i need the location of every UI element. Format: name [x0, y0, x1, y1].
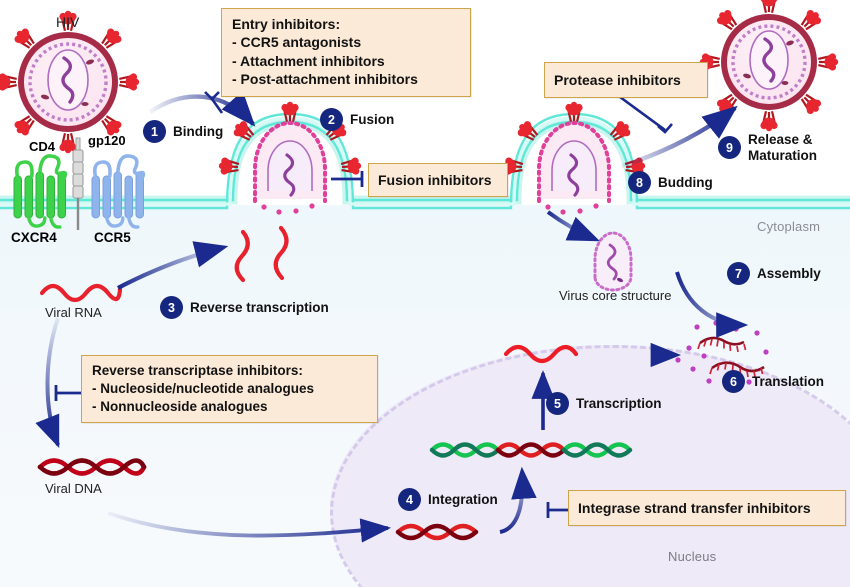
viral-rna-label: Viral RNA [45, 305, 102, 320]
step-7-label: Assembly [757, 266, 821, 282]
entry-inhibitors-line-3: - Attachment inhibitors [232, 52, 460, 70]
cytoplasm-label: Cytoplasm [757, 219, 820, 234]
fusion-inhibitors-box: Fusion inhibitors [368, 163, 508, 197]
step-9-release-maturation: 9 Release & Maturation [718, 132, 817, 164]
entry-inhibitors-line-2: - CCR5 antagonists [232, 33, 460, 51]
step-4-integration: 4 Integration [398, 488, 498, 511]
rt-inhibitors-box: Reverse transcriptase inhibitors: - Nucl… [81, 355, 378, 423]
rt-inhibitors-line-1: Reverse transcriptase inhibitors: [92, 362, 367, 380]
step-8-badge: 8 [628, 171, 651, 194]
virus-core-label: Virus core structure [559, 288, 671, 303]
protease-inhibitors-box: Protease inhibitors [544, 62, 708, 98]
step-2-label: Fusion [350, 112, 394, 128]
nucleus-label: Nucleus [668, 549, 716, 564]
step-5-badge: 5 [546, 392, 569, 415]
step-1-label: Binding [173, 124, 223, 140]
rt-inhibitors-line-2: - Nucleoside/nucleotide analogues [92, 380, 367, 398]
entry-inhibitors-line-1: Entry inhibitors: [232, 15, 460, 33]
figure-canvas: Cytoplasm Nucleus [0, 0, 850, 587]
step-1-binding: 1 Binding [143, 120, 223, 143]
step-3-reverse-transcription: 3 Reverse transcription [160, 296, 329, 319]
hiv-label: HIV [56, 14, 79, 30]
step-7-badge: 7 [727, 262, 750, 285]
step-8-label: Budding [658, 175, 713, 191]
rt-inhibitors-line-3: - Nonnucleoside analogues [92, 398, 367, 416]
gp120-label: gp120 [88, 133, 126, 148]
step-9-label: Release & Maturation [748, 132, 817, 164]
step-1-badge: 1 [143, 120, 166, 143]
step-6-translation: 6 Translation [722, 370, 824, 393]
ccr5-label: CCR5 [94, 230, 131, 245]
step-4-badge: 4 [398, 488, 421, 511]
cd4-label: CD4 [29, 139, 55, 154]
entry-inhibitors-box: Entry inhibitors: - CCR5 antagonists - A… [221, 8, 471, 97]
entry-inhibitors-line-4: - Post-attachment inhibitors [232, 70, 460, 88]
step-8-budding: 8 Budding [628, 171, 713, 194]
fusion-inhibitors-line-1: Fusion inhibitors [378, 171, 498, 189]
step-7-assembly: 7 Assembly [727, 262, 821, 285]
step-2-fusion: 2 Fusion [320, 108, 394, 131]
step-6-label: Translation [752, 374, 824, 390]
step-6-badge: 6 [722, 370, 745, 393]
integrase-inhibitors-box: Integrase strand transfer inhibitors [568, 490, 846, 526]
cxcr4-label: CXCR4 [11, 230, 57, 245]
viral-dna-label: Viral DNA [45, 481, 102, 496]
integrase-inhibitors-line-1: Integrase strand transfer inhibitors [578, 499, 836, 517]
step-5-label: Transcription [576, 396, 662, 412]
step-2-badge: 2 [320, 108, 343, 131]
step-9-badge: 9 [718, 136, 741, 159]
step-3-label: Reverse transcription [190, 300, 329, 316]
protease-inhibitors-line-1: Protease inhibitors [554, 71, 698, 89]
step-4-label: Integration [428, 492, 498, 508]
step-5-transcription: 5 Transcription [546, 392, 662, 415]
step-3-badge: 3 [160, 296, 183, 319]
